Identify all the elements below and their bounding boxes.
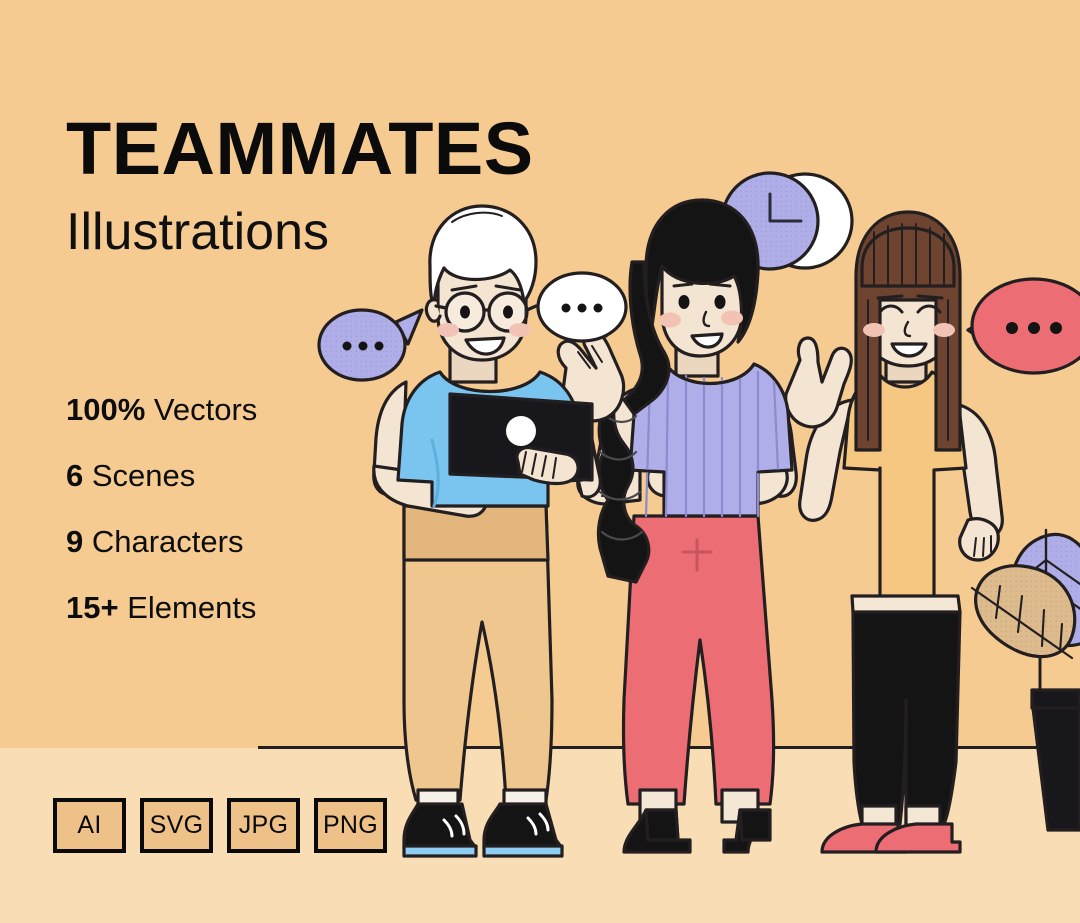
- white-speech-bubble: [538, 273, 626, 341]
- purple-speech-bubble: [319, 310, 422, 380]
- page-subtitle: Illustrations: [66, 206, 546, 258]
- headline-block: TEAMMATES Illustrations: [66, 112, 546, 258]
- coral-speech-bubble: [968, 279, 1080, 373]
- format-badge-row: AISVGJPGPNG: [53, 798, 387, 853]
- feature-item: 100% Vectors: [66, 392, 257, 428]
- feature-item: 15+ Elements: [66, 590, 257, 626]
- feature-label: Characters: [83, 524, 243, 559]
- page-title: TEAMMATES: [66, 112, 546, 186]
- format-badge-jpg[interactable]: JPG: [227, 798, 300, 853]
- format-badge-svg[interactable]: SVG: [140, 798, 213, 853]
- feature-number: 100%: [66, 392, 145, 427]
- feature-number: 15+: [66, 590, 119, 625]
- feature-number: 6: [66, 458, 83, 493]
- feature-label: Vectors: [145, 392, 257, 427]
- feature-item: 6 Scenes: [66, 458, 257, 494]
- potted-plant: [972, 530, 1080, 830]
- feature-list: 100% Vectors6 Scenes9 Characters15+ Elem…: [66, 392, 257, 656]
- format-badge-ai[interactable]: AI: [53, 798, 126, 853]
- character-woman-brown-bangs: [786, 212, 1003, 852]
- feature-label: Elements: [119, 590, 257, 625]
- feature-number: 9: [66, 524, 83, 559]
- feature-label: Scenes: [83, 458, 195, 493]
- feature-item: 9 Characters: [66, 524, 257, 560]
- format-badge-png[interactable]: PNG: [314, 798, 387, 853]
- poster-canvas: TEAMMATES Illustrations 100% Vectors6 Sc…: [0, 0, 1080, 923]
